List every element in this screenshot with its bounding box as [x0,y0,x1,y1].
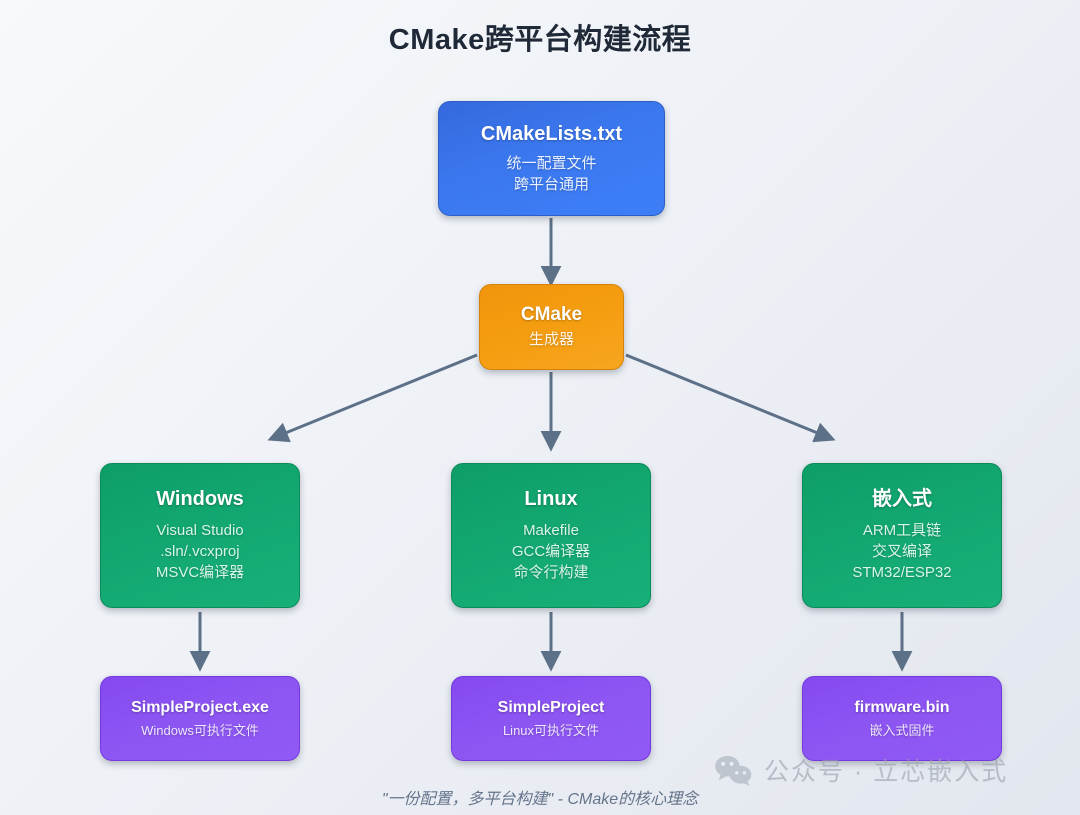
node-subtitle-line: 嵌入式固件 [869,722,934,740]
node-subtitle-line: Linux可执行文件 [503,722,599,740]
node-platform-windows[interactable]: Windows Visual Studio .sln/.vcxproj MSVC… [100,463,300,608]
watermark-text: 公众号 · 立芯嵌入式 [764,752,1008,788]
node-subtitle-line: GCC编译器 [512,542,590,563]
node-subtitle-line: 跨平台通用 [514,175,589,196]
node-subtitle-line: 生成器 [529,330,574,351]
watermark: 公众号 · 立芯嵌入式 [712,752,1008,788]
page-title: CMake跨平台构建流程 [0,16,1080,58]
node-cmake-generator[interactable]: CMake 生成器 [479,284,624,370]
node-title: CMake [521,303,582,327]
node-subtitle-line: 命令行构建 [513,563,588,584]
node-cmakelists[interactable]: CMakeLists.txt 统一配置文件 跨平台通用 [438,101,665,216]
node-title: firmware.bin [854,698,949,718]
node-title: CMakeLists.txt [481,122,622,147]
node-subtitle-line: Windows可执行文件 [141,722,259,740]
wechat-icon [712,754,754,786]
node-title: SimpleProject.exe [131,698,269,718]
node-subtitle-line: 交叉编译 [872,542,932,563]
node-output-linux-binary[interactable]: SimpleProject Linux可执行文件 [451,676,651,761]
node-subtitle-line: Visual Studio [156,521,243,542]
node-title: Windows [156,487,244,512]
node-subtitle-line: ARM工具链 [863,521,941,542]
node-platform-embedded[interactable]: 嵌入式 ARM工具链 交叉编译 STM32/ESP32 [802,463,1002,608]
edge-generator-to-embedded [626,355,820,434]
node-platform-linux[interactable]: Linux Makefile GCC编译器 命令行构建 [451,463,651,608]
node-title: 嵌入式 [872,487,932,512]
node-title: SimpleProject [498,698,605,718]
node-output-firmware[interactable]: firmware.bin 嵌入式固件 [802,676,1002,761]
node-subtitle-line: Makefile [523,521,579,542]
node-subtitle-line: MSVC编译器 [156,563,244,584]
node-output-windows-exe[interactable]: SimpleProject.exe Windows可执行文件 [100,676,300,761]
diagram-canvas: CMake跨平台构建流程 CMakeLists.txt 统一配置文件 跨平台通用… [0,0,1080,815]
edge-generator-to-windows [283,355,477,434]
node-title: Linux [524,487,577,512]
node-subtitle-line: .sln/.vcxproj [160,542,239,563]
footer-caption: "一份配置，多平台构建" - CMake的核心理念 [0,785,1080,809]
node-subtitle-line: STM32/ESP32 [852,563,951,584]
node-subtitle-line: 统一配置文件 [506,154,596,175]
